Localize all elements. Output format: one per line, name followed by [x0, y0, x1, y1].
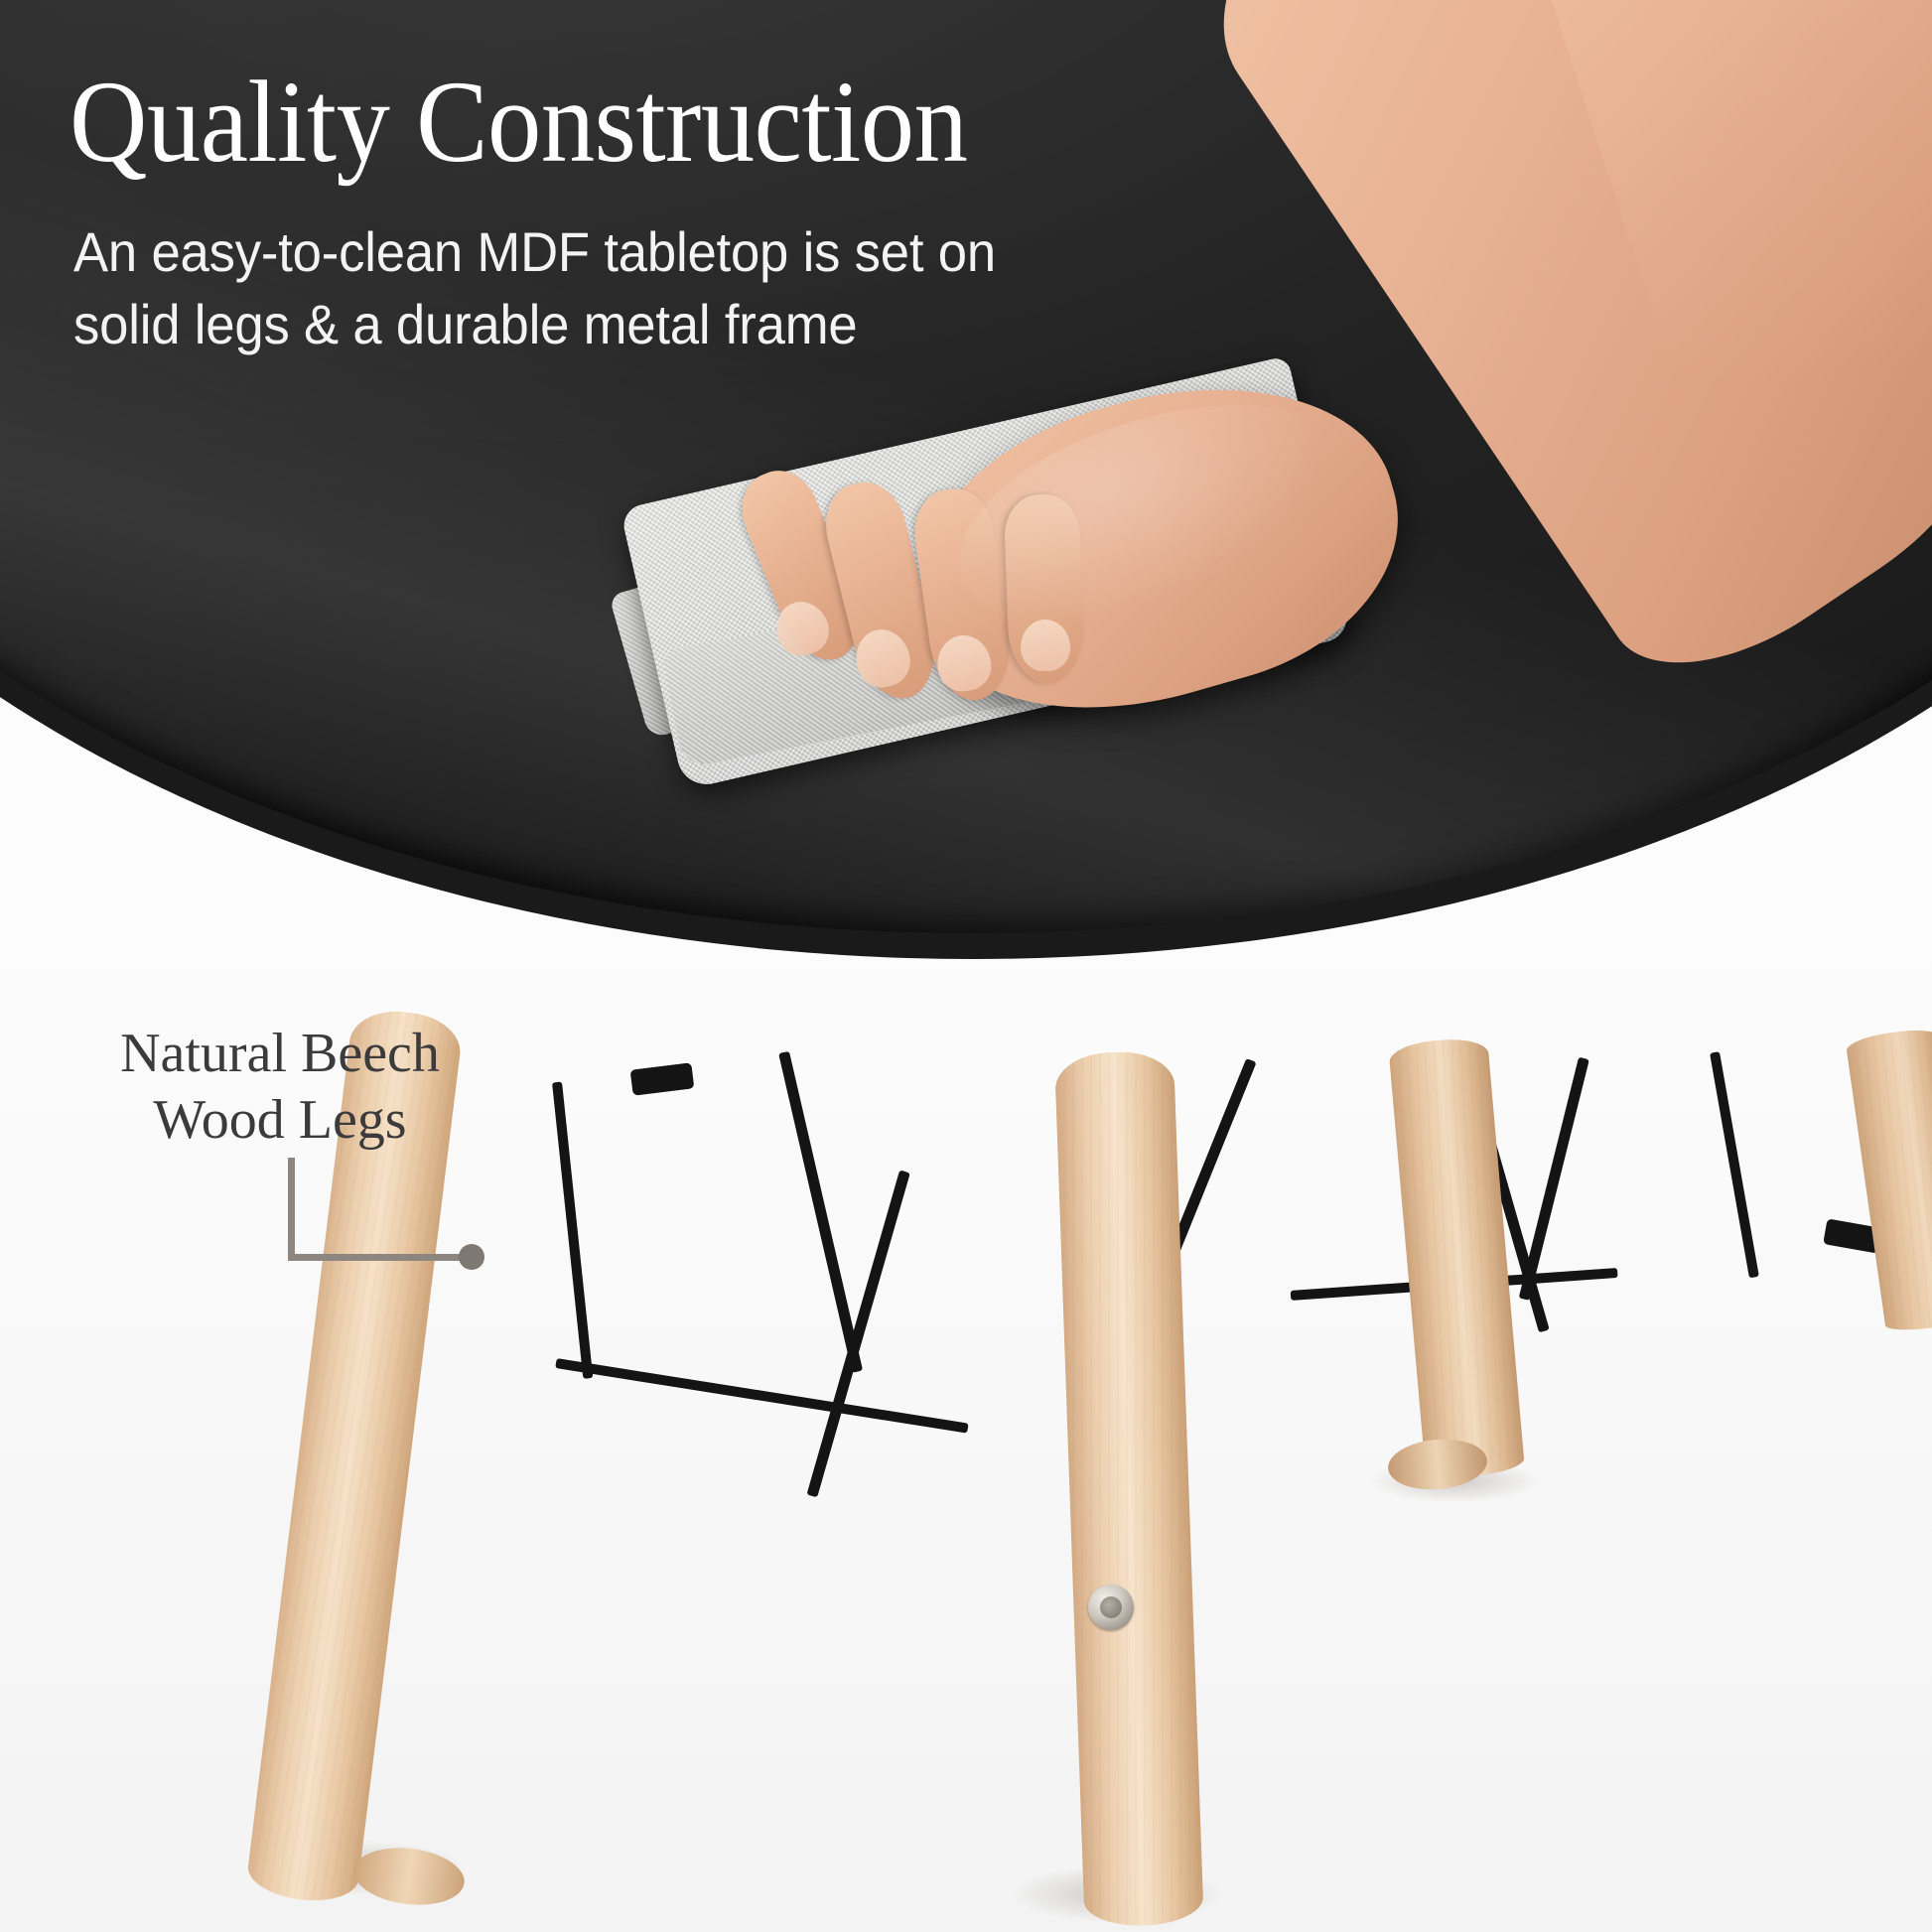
screw-head-slot [1100, 1596, 1122, 1618]
subtitle-line-1: An easy-to-clean MDF tabletop is set on [73, 216, 996, 289]
leg-screw[interactable] [1088, 1585, 1134, 1630]
subtitle-line-2: solid legs & a durable metal frame [73, 289, 996, 361]
callout-leader-vertical [288, 1158, 295, 1261]
product-feature-image: Quality Construction An easy-to-clean MD… [0, 0, 1932, 1932]
subtitle: An easy-to-clean MDF tabletop is set on … [73, 216, 996, 361]
callout-leader-dot [459, 1244, 484, 1270]
callout-label: Natural Beech Wood Legs [81, 1021, 479, 1154]
callout-line-2: Wood Legs [81, 1087, 479, 1154]
page-title: Quality Construction [69, 62, 967, 184]
callout-leader-horizontal [288, 1254, 467, 1261]
callout-line-1: Natural Beech [81, 1021, 479, 1087]
